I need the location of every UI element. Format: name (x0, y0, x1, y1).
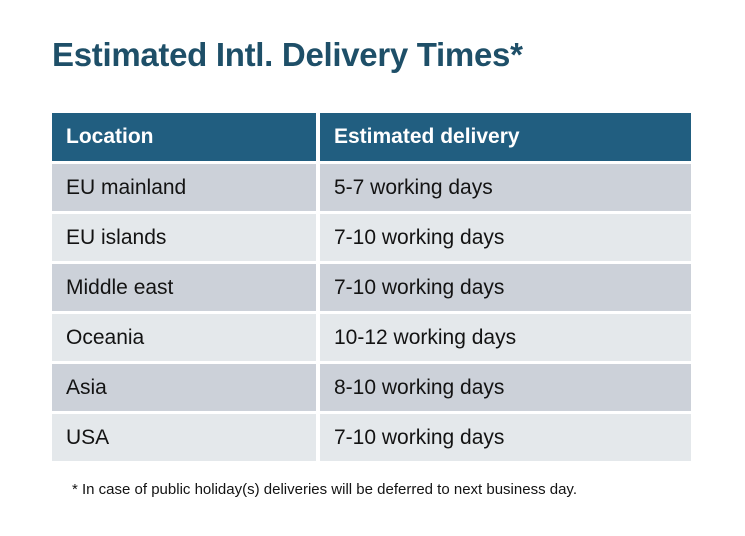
delivery-times-table: Location Estimated delivery EU mainland … (52, 113, 691, 461)
cell-location: Oceania (52, 314, 316, 361)
column-header-estimated-delivery: Estimated delivery (320, 113, 691, 161)
column-header-location: Location (52, 113, 316, 161)
cell-estimated-delivery: 7-10 working days (320, 214, 691, 261)
delivery-times-page: Estimated Intl. Delivery Times* Location… (0, 0, 745, 536)
cell-location: Middle east (52, 264, 316, 311)
cell-estimated-delivery: 7-10 working days (320, 414, 691, 461)
table-row: Asia 8-10 working days (52, 364, 691, 411)
cell-location: Asia (52, 364, 316, 411)
table-row: EU islands 7-10 working days (52, 214, 691, 261)
cell-location: EU islands (52, 214, 316, 261)
cell-estimated-delivery: 10-12 working days (320, 314, 691, 361)
cell-estimated-delivery: 5-7 working days (320, 164, 691, 211)
table-row: Middle east 7-10 working days (52, 264, 691, 311)
table-row: USA 7-10 working days (52, 414, 691, 461)
cell-location: EU mainland (52, 164, 316, 211)
page-title: Estimated Intl. Delivery Times* (52, 36, 523, 74)
cell-estimated-delivery: 7-10 working days (320, 264, 691, 311)
table-row: Oceania 10-12 working days (52, 314, 691, 361)
table-row: EU mainland 5-7 working days (52, 164, 691, 211)
cell-estimated-delivery: 8-10 working days (320, 364, 691, 411)
footnote-text: * In case of public holiday(s) deliverie… (72, 481, 577, 498)
cell-location: USA (52, 414, 316, 461)
table-header-row: Location Estimated delivery (52, 113, 691, 161)
